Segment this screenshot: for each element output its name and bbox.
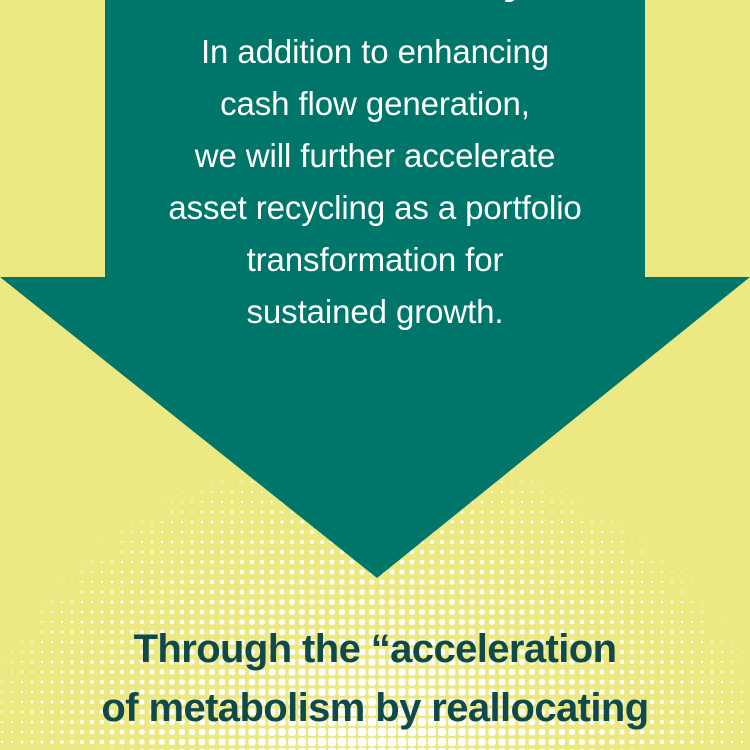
bottom-headline-line-1: Through the “acceleration [0,620,750,679]
poster-slide: are here to stay. In addition to enhanci… [0,0,750,750]
arrow-headline: are here to stay. [0,0,750,4]
bottom-text-block: Through the “acceleration of metabolism … [0,620,750,738]
arrow-body-line-4: asset recycling as a portfolio [0,182,750,234]
arrow-body-line-3: we will further accelerate [0,130,750,182]
arrow-body-line-1: In addition to enhancing [0,26,750,78]
arrow-body-line-2: cash flow generation, [0,78,750,130]
bottom-headline-line-2: of metabolism by reallocating [0,679,750,738]
arrow-body-line-5: transformation for [0,234,750,286]
arrow-body-block: In addition to enhancing cash flow gener… [0,26,750,338]
arrow-text-block: are here to stay. In addition to enhanci… [0,0,750,338]
arrow-body-line-6: sustained growth. [0,286,750,338]
